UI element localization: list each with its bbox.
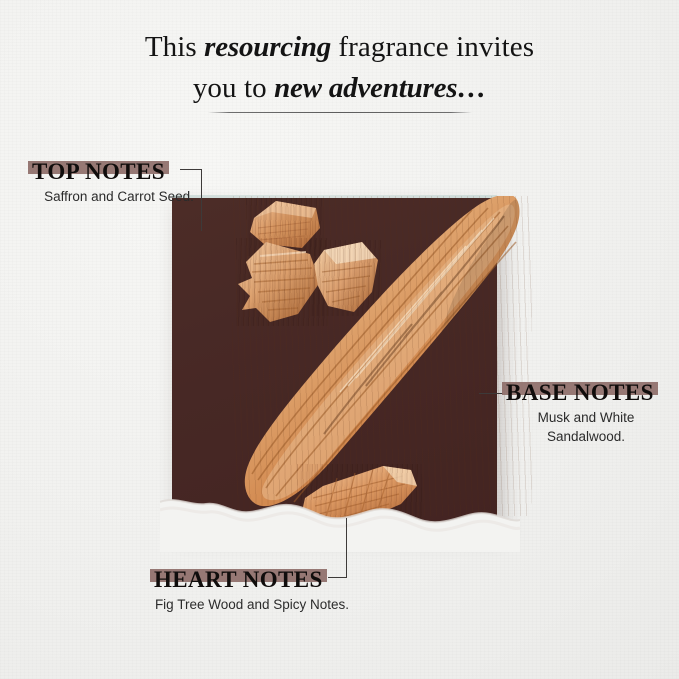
headline-line-2: you to new adventures… <box>0 68 679 109</box>
note-label-base: BASE NOTES Musk and White Sandalwood. <box>502 381 677 446</box>
note-label-heart: HEART NOTES Fig Tree Wood and Spicy Note… <box>150 568 370 615</box>
note-description-heart: Fig Tree Wood and Spicy Notes. <box>154 596 350 615</box>
headline-text-1b: fragrance invites <box>331 31 534 63</box>
note-title-heart: HEART NOTES <box>150 568 327 592</box>
note-title-base: BASE NOTES <box>502 381 658 405</box>
note-title-text: BASE NOTES <box>506 380 654 405</box>
connector-base-notes-horizontal <box>479 393 503 394</box>
note-description-base: Musk and White Sandalwood. <box>502 409 670 446</box>
sandalwood-chunk-bottom <box>297 464 422 536</box>
note-label-top: TOP NOTES Saffron and Carrot Seed. <box>28 160 228 207</box>
note-title-top: TOP NOTES <box>28 160 169 184</box>
note-title-text: TOP NOTES <box>32 159 165 184</box>
headline-text-2a: you to <box>193 72 274 104</box>
headline-line-1: This resourcing fragrance invites <box>0 27 679 68</box>
headline-emphasis-resourcing: resourcing <box>204 31 331 63</box>
headline-emphasis-adventures: new adventures… <box>274 72 486 104</box>
fragrance-notes-infographic: This resourcing fragrance invites you to… <box>0 0 679 679</box>
page-title: This resourcing fragrance invites you to… <box>0 27 679 109</box>
note-title-text: HEART NOTES <box>154 567 323 592</box>
headline-text-1a: This <box>145 31 204 63</box>
headline-divider-rule <box>208 112 472 113</box>
note-description-top: Saffron and Carrot Seed. <box>44 188 194 207</box>
wood-grain-texture <box>297 464 422 536</box>
